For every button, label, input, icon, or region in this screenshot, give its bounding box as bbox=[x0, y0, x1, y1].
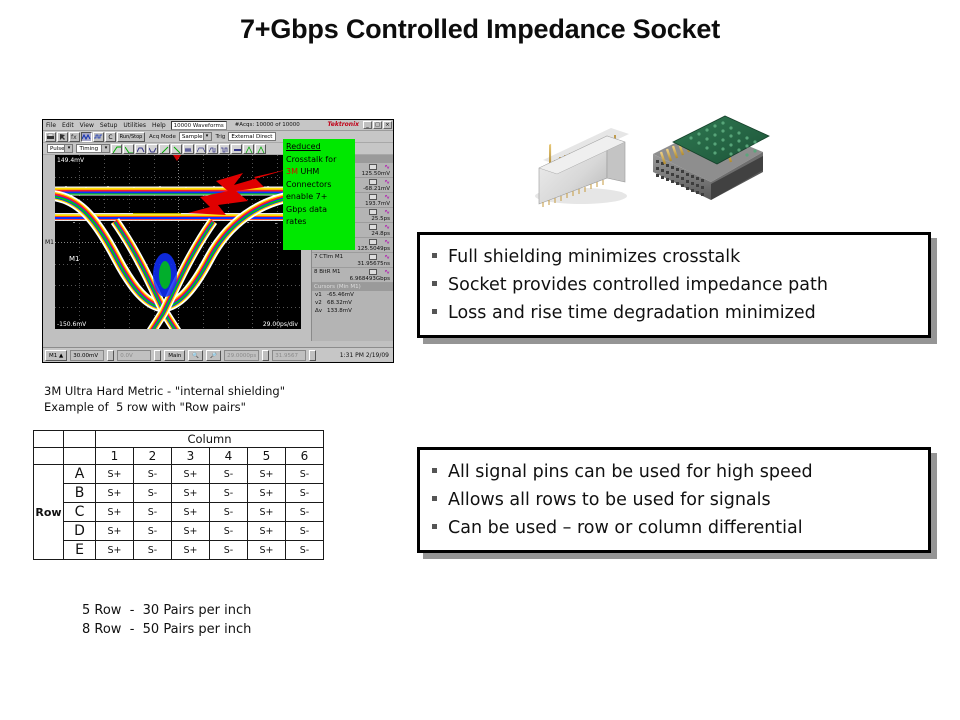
menu-view[interactable]: View bbox=[77, 122, 97, 129]
menu-file[interactable]: File bbox=[43, 122, 59, 129]
level-icon[interactable] bbox=[231, 144, 242, 154]
zoom-in-icon[interactable]: 🔍 bbox=[188, 350, 203, 361]
column-number: 3 bbox=[172, 448, 210, 465]
measurement-value: 31.95675ns bbox=[314, 261, 393, 268]
top-voltage-label: 149.4mV bbox=[57, 157, 84, 164]
measure-wave-icon: ∿ bbox=[384, 178, 390, 186]
fall-time-icon[interactable] bbox=[171, 144, 182, 154]
chevron-down-icon[interactable]: ▾ bbox=[203, 133, 211, 140]
bottom-voltage-label: -150.6mV bbox=[57, 321, 86, 328]
pairs-line-2: 8 Row - 50 Pairs per inch bbox=[82, 622, 251, 637]
table-blank-2 bbox=[64, 448, 96, 465]
time-stepper[interactable] bbox=[262, 350, 269, 361]
pin-cell: S- bbox=[286, 522, 324, 541]
cursor-line[interactable] bbox=[133, 213, 181, 214]
callout-box-features: Full shielding minimizes crosstalk Socke… bbox=[417, 232, 931, 338]
pin-cell: S- bbox=[286, 503, 324, 522]
acq-mode-value: Sample bbox=[182, 133, 203, 141]
pin-cell: S+ bbox=[96, 465, 134, 484]
measure-wave-icon: ∿ bbox=[384, 253, 390, 261]
acq-mode-select[interactable]: Sample ▾ bbox=[179, 132, 212, 141]
row-letter: E bbox=[64, 541, 96, 560]
tektronix-logo: Tektronix bbox=[327, 121, 359, 128]
scope-caption: 3M Ultra Hard Metric - "internal shieldi… bbox=[44, 383, 285, 415]
run-stop-button[interactable]: Run/Stop bbox=[117, 132, 145, 142]
bullet-item: Socket provides controlled impedance pat… bbox=[432, 271, 918, 299]
table-blank bbox=[34, 448, 64, 465]
bullet-item: Allows all rows to be used for signals bbox=[432, 486, 918, 514]
trigger-marker-icon bbox=[173, 155, 181, 161]
pin-cell: S+ bbox=[172, 541, 210, 560]
maximize-icon[interactable]: □ bbox=[373, 121, 382, 129]
pairs-per-inch-note: 5 Row - 30 Pairs per inch 8 Row - 50 Pai… bbox=[82, 601, 251, 639]
chevron-down-icon[interactable]: ▾ bbox=[101, 145, 109, 152]
duty-icon[interactable] bbox=[207, 144, 218, 154]
column-header-label: Column bbox=[96, 431, 324, 448]
timing-mode-value: Timing bbox=[79, 145, 98, 153]
bullet-text: Allows all rows to be used for signals bbox=[448, 486, 771, 514]
pin-cell: S- bbox=[286, 484, 324, 503]
pin-cell: S+ bbox=[172, 465, 210, 484]
channel-select-button[interactable]: M1 ▲ bbox=[45, 350, 67, 361]
acq-mode-label: Acq Mode bbox=[149, 134, 176, 140]
row-letter: C bbox=[64, 503, 96, 522]
pin-cell: S+ bbox=[96, 503, 134, 522]
red-arrow-annotation bbox=[186, 163, 291, 221]
width-icon[interactable] bbox=[195, 144, 206, 154]
pin-cell: S+ bbox=[248, 522, 286, 541]
pin-cell: S- bbox=[210, 522, 248, 541]
callout-line-7: rates bbox=[286, 216, 352, 229]
table-corner-blank-2 bbox=[64, 431, 96, 448]
bullet-text: Socket provides controlled impedance pat… bbox=[448, 271, 828, 299]
pin-cell: S- bbox=[134, 484, 172, 503]
cursor-name: Δv bbox=[315, 307, 327, 315]
bullet-text: Loss and rise time degradation minimized bbox=[448, 299, 816, 327]
pairs-line-1: 5 Row - 30 Pairs per inch bbox=[82, 603, 251, 618]
print-icon[interactable] bbox=[45, 132, 56, 142]
measure-wave-icon: ∿ bbox=[384, 223, 390, 231]
callout-line-1: Reduced bbox=[286, 141, 352, 154]
pin-cell: S+ bbox=[96, 522, 134, 541]
pin-map-table: Column 1 2 3 4 5 6 Row A S+ S- S+ S- S+ … bbox=[33, 430, 324, 560]
channel-left-label: M1 bbox=[45, 239, 54, 246]
measure-box-icon bbox=[369, 164, 377, 170]
brand-3m-text: 3M bbox=[286, 167, 298, 176]
burst-icon[interactable] bbox=[183, 144, 194, 154]
bullet-square-icon bbox=[432, 309, 437, 314]
measurement-row[interactable]: 8 BitR M1 ∿ 6.968493Gbps bbox=[312, 268, 393, 283]
measure-wave-icon: ∿ bbox=[384, 238, 390, 246]
volts-stepper[interactable] bbox=[107, 350, 114, 361]
timebase-label: 29.00ps/div bbox=[263, 321, 298, 328]
measure-box-icon bbox=[369, 194, 377, 200]
rise-time-icon[interactable] bbox=[159, 144, 170, 154]
table-row: E S+ S- S+ S- S+ S- bbox=[34, 541, 324, 560]
column-number: 4 bbox=[210, 448, 248, 465]
callout-line-3: 3M UHM bbox=[286, 166, 352, 179]
acq-status-text: #Acqs: 10000 of 10000 bbox=[235, 122, 300, 128]
column-number: 6 bbox=[286, 448, 324, 465]
neg-pulse-icon[interactable] bbox=[147, 144, 158, 154]
pin-cell: S- bbox=[286, 465, 324, 484]
pin-cell: S- bbox=[210, 503, 248, 522]
callout-line-3-rest: UHM bbox=[298, 167, 319, 176]
table-row: B S+ S- S+ S- S+ S- bbox=[34, 484, 324, 503]
cursors-header: Cursors (Min M1) bbox=[312, 283, 393, 291]
pin-cell: S+ bbox=[248, 484, 286, 503]
caption-line-2: Example of 5 row with "Row pairs" bbox=[44, 400, 246, 414]
bullet-item: Can be used – row or column differential bbox=[432, 514, 918, 542]
pin-cell: S- bbox=[134, 503, 172, 522]
svg-text:fx: fx bbox=[71, 134, 77, 141]
column-number: 2 bbox=[134, 448, 172, 465]
measurement-row[interactable]: 7 CTim M1 ∿ 31.95675ns bbox=[312, 253, 393, 268]
measurement-value: 6.968493Gbps bbox=[314, 276, 393, 283]
scope-menubar: File Edit View Setup Utilities Help 1000… bbox=[43, 120, 393, 131]
scope-clock: 1:31 PM 2/19/09 bbox=[340, 352, 393, 359]
measure-icon[interactable] bbox=[93, 132, 104, 142]
column-number: 1 bbox=[96, 448, 134, 465]
callout-line-2: Crosstalk for bbox=[286, 154, 352, 167]
row-letter: B bbox=[64, 484, 96, 503]
measure-box-icon bbox=[369, 269, 377, 275]
cursor-row: v268.32mV bbox=[312, 299, 393, 307]
fx-icon[interactable]: fx bbox=[69, 132, 80, 142]
fall-edge-icon[interactable] bbox=[123, 144, 134, 154]
bullet-item: Loss and rise time degradation minimized bbox=[432, 299, 918, 327]
volts-per-div-field[interactable]: 30.00mV bbox=[70, 350, 104, 361]
cursor-row: Δv133.8mV bbox=[312, 307, 393, 315]
pos-pulse-icon[interactable] bbox=[135, 144, 146, 154]
cursor-row: v1-65.46mV bbox=[312, 291, 393, 299]
window-buttons: _ □ × bbox=[363, 121, 392, 129]
row-letter: A bbox=[64, 465, 96, 484]
bullet-square-icon bbox=[432, 281, 437, 286]
channel-c-button[interactable]: C bbox=[105, 132, 116, 142]
main-timebase-button[interactable]: Main bbox=[164, 350, 185, 361]
callout-line-4: Connectors bbox=[286, 179, 352, 192]
cursor-name: v2 bbox=[315, 299, 327, 307]
trig-label: Trig bbox=[216, 134, 226, 140]
table-row: C S+ S- S+ S- S+ S- bbox=[34, 503, 324, 522]
measure-box-icon bbox=[369, 224, 377, 230]
menu-setup[interactable]: Setup bbox=[97, 122, 120, 129]
measure-wave-icon: ∿ bbox=[384, 208, 390, 216]
slide-canvas: 7+Gbps Controlled Impedance Socket File … bbox=[0, 0, 960, 720]
bullet-item: All signal pins can be used for high spe… bbox=[432, 458, 918, 486]
scope-status-bar: M1 ▲ 30.00mV 0.0V Main 🔍 🔎 29.0000ps 31.… bbox=[43, 347, 393, 362]
position-field[interactable]: 31.9567 bbox=[272, 350, 306, 361]
callout-box-signal-usage: All signal pins can be used for high spe… bbox=[417, 447, 931, 553]
pin-cell: S+ bbox=[248, 503, 286, 522]
waveform-icon[interactable] bbox=[81, 132, 92, 142]
time-per-div-field[interactable]: 29.0000ps bbox=[224, 350, 259, 361]
bullet-square-icon bbox=[432, 253, 437, 258]
shielded-connector-photo bbox=[525, 112, 645, 212]
socket-pcb-assembly-photo bbox=[643, 112, 773, 212]
product-photos bbox=[525, 112, 775, 212]
zoom-out-icon[interactable]: 🔎 bbox=[206, 350, 221, 361]
bullet-text: Can be used – row or column differential bbox=[448, 514, 803, 542]
close-icon[interactable]: × bbox=[383, 121, 392, 129]
pulse-mode-select[interactable]: Pulse ▾ bbox=[47, 144, 73, 153]
minimize-icon[interactable]: _ bbox=[363, 121, 372, 129]
pin-cell: S+ bbox=[172, 522, 210, 541]
callout-line-6: Gbps data bbox=[286, 204, 352, 217]
measure-wave-icon: ∿ bbox=[384, 268, 390, 276]
cursor-value: 68.32mV bbox=[327, 299, 352, 307]
measure-wave-icon: ∿ bbox=[384, 193, 390, 201]
row-letter: D bbox=[64, 522, 96, 541]
pin-cell: S+ bbox=[96, 484, 134, 503]
menu-edit[interactable]: Edit bbox=[59, 122, 77, 129]
measurement-label: 7 CTim M1 bbox=[314, 253, 393, 261]
pin-cell: S- bbox=[210, 541, 248, 560]
green-callout-box: Reduced Crosstalk for 3M UHM Connectors … bbox=[283, 139, 355, 250]
cursor-value: 133.8mV bbox=[327, 307, 352, 315]
caption-line-1: 3M Ultra Hard Metric - "internal shieldi… bbox=[44, 384, 285, 398]
table-row-column-numbers: 1 2 3 4 5 6 bbox=[34, 448, 324, 465]
pin-cell: S- bbox=[286, 541, 324, 560]
menu-help[interactable]: Help bbox=[149, 122, 169, 129]
channel-marker-label: M1 bbox=[69, 255, 80, 263]
page-title: 7+Gbps Controlled Impedance Socket bbox=[0, 14, 960, 45]
bullet-square-icon bbox=[432, 468, 437, 473]
pulse-mode-value: Pulse bbox=[50, 145, 64, 153]
rise-edge-icon[interactable] bbox=[111, 144, 122, 154]
cursor-name: v1 bbox=[315, 291, 327, 299]
pin-cell: S+ bbox=[96, 541, 134, 560]
table-row-column-header: Column bbox=[34, 431, 324, 448]
waveforms-field[interactable]: 10000 Waveforms bbox=[171, 121, 227, 130]
pin-cell: S- bbox=[210, 465, 248, 484]
measure-box-icon bbox=[369, 209, 377, 215]
position-stepper[interactable] bbox=[309, 350, 316, 361]
measure-wave-icon: ∿ bbox=[384, 163, 390, 171]
table-row: Row A S+ S- S+ S- S+ S- bbox=[34, 465, 324, 484]
offset-stepper[interactable] bbox=[154, 350, 161, 361]
cursor-icon[interactable] bbox=[57, 132, 68, 142]
pin-table: Column 1 2 3 4 5 6 Row A S+ S- S+ S- S+ … bbox=[33, 430, 324, 560]
table-row: D S+ S- S+ S- S+ S- bbox=[34, 522, 324, 541]
trig-source-field[interactable]: External Direct bbox=[228, 132, 276, 141]
bullet-square-icon bbox=[432, 524, 437, 529]
measure-box-icon bbox=[369, 254, 377, 260]
amplitude-icon[interactable] bbox=[243, 144, 254, 154]
menu-utilities[interactable]: Utilities bbox=[120, 122, 149, 129]
pin-cell: S- bbox=[134, 465, 172, 484]
bullet-item: Full shielding minimizes crosstalk bbox=[432, 243, 918, 271]
bullet-text: Full shielding minimizes crosstalk bbox=[448, 243, 740, 271]
cursor-value: -65.46mV bbox=[327, 291, 354, 299]
timing-mode-select[interactable]: Timing ▾ bbox=[76, 144, 110, 153]
pin-cell: S- bbox=[134, 541, 172, 560]
measurement-label: 8 BitR M1 bbox=[314, 268, 393, 276]
overshoot-icon[interactable] bbox=[255, 144, 266, 154]
offset-field[interactable]: 0.0V bbox=[117, 350, 151, 361]
period-icon[interactable] bbox=[219, 144, 230, 154]
pin-cell: S+ bbox=[248, 541, 286, 560]
callout-line-5: enable 7+ bbox=[286, 191, 352, 204]
bullet-square-icon bbox=[432, 496, 437, 501]
trig-source-value: External Direct bbox=[231, 133, 272, 141]
column-number: 5 bbox=[248, 448, 286, 465]
measure-box-icon bbox=[369, 239, 377, 245]
pin-cell: S+ bbox=[172, 484, 210, 503]
pin-cell: S+ bbox=[248, 465, 286, 484]
measure-box-icon bbox=[369, 179, 377, 185]
pin-cell: S+ bbox=[172, 503, 210, 522]
table-corner-blank bbox=[34, 431, 64, 448]
row-header-label: Row bbox=[34, 465, 64, 560]
bullet-text: All signal pins can be used for high spe… bbox=[448, 458, 813, 486]
pin-cell: S- bbox=[210, 484, 248, 503]
chevron-down-icon[interactable]: ▾ bbox=[64, 145, 72, 152]
pin-cell: S- bbox=[134, 522, 172, 541]
